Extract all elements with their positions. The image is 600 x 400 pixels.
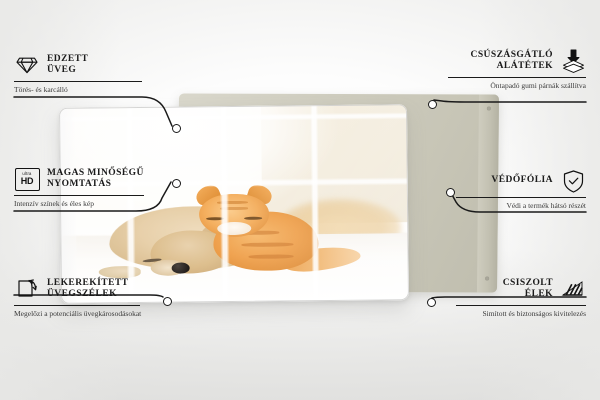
backing-screw-top (487, 107, 491, 111)
feature-divider (448, 77, 586, 78)
callout-dot-polished-edges[interactable] (427, 298, 436, 307)
feature-title: CSISZOLTÉLEK (503, 278, 553, 301)
diamond-icon (14, 52, 40, 78)
feature-protective-film[interactable]: VÉDŐFÓLIA Védi a termék hátsó részét (452, 168, 586, 211)
feature-divider (456, 197, 586, 198)
callout-dot-antislip[interactable] (428, 100, 437, 109)
feature-subtitle: Védi a termék hátsó részét (452, 201, 586, 211)
feature-title: LEKEREKÍTETTÜVEGSZÉLEK (47, 278, 128, 301)
ultra-hd-badge-large-text: HD (21, 177, 34, 186)
feature-divider (14, 81, 142, 82)
feature-subtitle: Törés- és karcálló (14, 85, 146, 95)
photo-kitten-stripe (248, 254, 293, 258)
feature-anti-slip-pads[interactable]: CSÚSZÁSGÁTLÓALÁTÉTEK Öntapadó gumi párná… (444, 48, 586, 91)
photo-puppy-nose (172, 262, 190, 273)
feature-head: EDZETTÜVEG (14, 52, 146, 78)
feature-title: MAGAS MINŐSÉGŰNYOMTATÁS (47, 168, 144, 191)
feature-title: EDZETTÜVEG (47, 54, 88, 77)
press-down-pad-icon (560, 48, 586, 74)
photo-kitten-eye-right (245, 217, 262, 220)
hatched-triangle-icon (560, 276, 586, 302)
infographic-page: EDZETTÜVEG Törés- és karcálló ultra HD M… (0, 0, 600, 400)
feature-head: VÉDŐFÓLIA (452, 168, 586, 194)
shield-check-icon (560, 168, 586, 194)
feature-head: CSÚSZÁSGÁTLÓALÁTÉTEK (444, 48, 586, 74)
ultra-hd-badge: ultra HD (15, 168, 40, 191)
feature-head: CSISZOLTÉLEK (452, 276, 586, 302)
feature-title: VÉDŐFÓLIA (491, 175, 553, 187)
feature-divider (14, 195, 144, 196)
feature-subtitle: Intenzív színek és éles kép (14, 199, 148, 209)
feature-divider (456, 305, 586, 306)
feature-subtitle: Simított és biztonságos kivitelezés (452, 309, 586, 319)
feature-head: LEKEREKÍTETTÜVEGSZÉLEK (14, 276, 144, 302)
feature-divider (14, 305, 140, 306)
feature-polished-edges[interactable]: CSISZOLTÉLEK Simított és biztonságos kiv… (452, 276, 586, 319)
feature-rounded-glass-edges[interactable]: LEKEREKÍTETTÜVEGSZÉLEK Megelőzi a potenc… (14, 276, 144, 319)
feature-head: ultra HD MAGAS MINŐSÉGŰNYOMTATÁS (14, 166, 148, 192)
feature-subtitle: Megelőzi a potenciális üvegkárosodásokat (14, 309, 144, 319)
rounded-corner-icon (14, 276, 40, 302)
feature-tempered-glass[interactable]: EDZETTÜVEG Törés- és karcálló (14, 52, 146, 95)
ultra-hd-icon: ultra HD (14, 166, 40, 192)
feature-high-quality-print[interactable]: ultra HD MAGAS MINŐSÉGŰNYOMTATÁS Intenzí… (14, 166, 148, 209)
callout-dot-tempered-glass[interactable] (172, 124, 181, 133)
callout-dot-rounded-edges[interactable] (163, 297, 172, 306)
feature-title: CSÚSZÁSGÁTLÓALÁTÉTEK (471, 50, 553, 73)
feature-subtitle: Öntapadó gumi párnák szállítva (444, 81, 586, 91)
callout-dot-print[interactable] (172, 179, 181, 188)
